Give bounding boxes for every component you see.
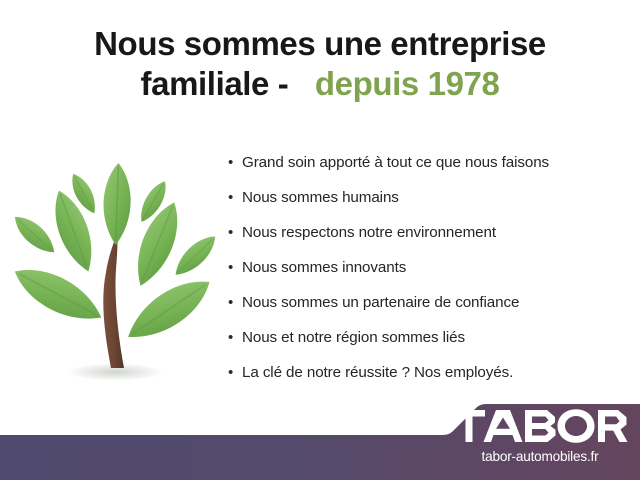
list-item: • Nous sommes humains [228, 187, 628, 222]
list-item: • Nous sommes innovants [228, 257, 628, 292]
list-item-label: Nous sommes humains [242, 187, 628, 209]
tree-leaf [102, 163, 132, 246]
title-line-2: familiale - depuis 1978 [0, 66, 640, 102]
list-item-label: Nous sommes un partenaire de confiance [242, 292, 628, 314]
tabor-wordmark-icon [452, 408, 628, 448]
list-item-label: Grand soin apporté à tout ce que nous fa… [242, 152, 628, 174]
values-list: • Grand soin apporté à tout ce que nous … [228, 152, 628, 397]
bullet-marker-icon: • [228, 327, 242, 349]
list-item-label: Nous sommes innovants [242, 257, 628, 279]
bullet-marker-icon: • [228, 292, 242, 314]
tree-leaf [127, 197, 189, 292]
bullet-marker-icon: • [228, 257, 242, 279]
tree-leaf [12, 257, 109, 332]
list-item: • La clé de notre réussite ? Nos employé… [228, 362, 628, 397]
footer-band: tabor-automobiles.fr [0, 398, 640, 480]
list-item-label: Nous et notre région sommes liés [242, 327, 628, 349]
tree-icon [12, 150, 217, 382]
tree-leaf [169, 230, 217, 282]
list-item: • Nous respectons notre environnement [228, 222, 628, 257]
title-accent-year: depuis 1978 [315, 65, 500, 102]
list-item-label: Nous respectons notre environnement [242, 222, 628, 244]
title-line-1: Nous sommes une entreprise [0, 26, 640, 62]
title-line-2-plain: familiale - [141, 65, 298, 102]
family-tree-illustration [12, 150, 217, 382]
list-item-label: La clé de notre réussite ? Nos employés. [242, 362, 628, 384]
list-item: • Nous sommes un partenaire de confiance [228, 292, 628, 327]
list-item: • Grand soin apporté à tout ce que nous … [228, 152, 628, 187]
page-title: Nous sommes une entreprise familiale - d… [0, 26, 640, 101]
bullet-marker-icon: • [228, 187, 242, 209]
brand-tagline: tabor-automobiles.fr [452, 449, 628, 464]
brand-logo[interactable]: tabor-automobiles.fr [452, 408, 628, 464]
bullet-marker-icon: • [228, 222, 242, 244]
slide-canvas: Nous sommes une entreprise familiale - d… [0, 0, 640, 480]
tree-leaf [12, 210, 61, 259]
tree-leaf [119, 268, 217, 350]
bullet-marker-icon: • [228, 152, 242, 174]
bullet-marker-icon: • [228, 362, 242, 384]
tree-trunk [103, 234, 124, 368]
list-item: • Nous et notre région sommes liés [228, 327, 628, 362]
